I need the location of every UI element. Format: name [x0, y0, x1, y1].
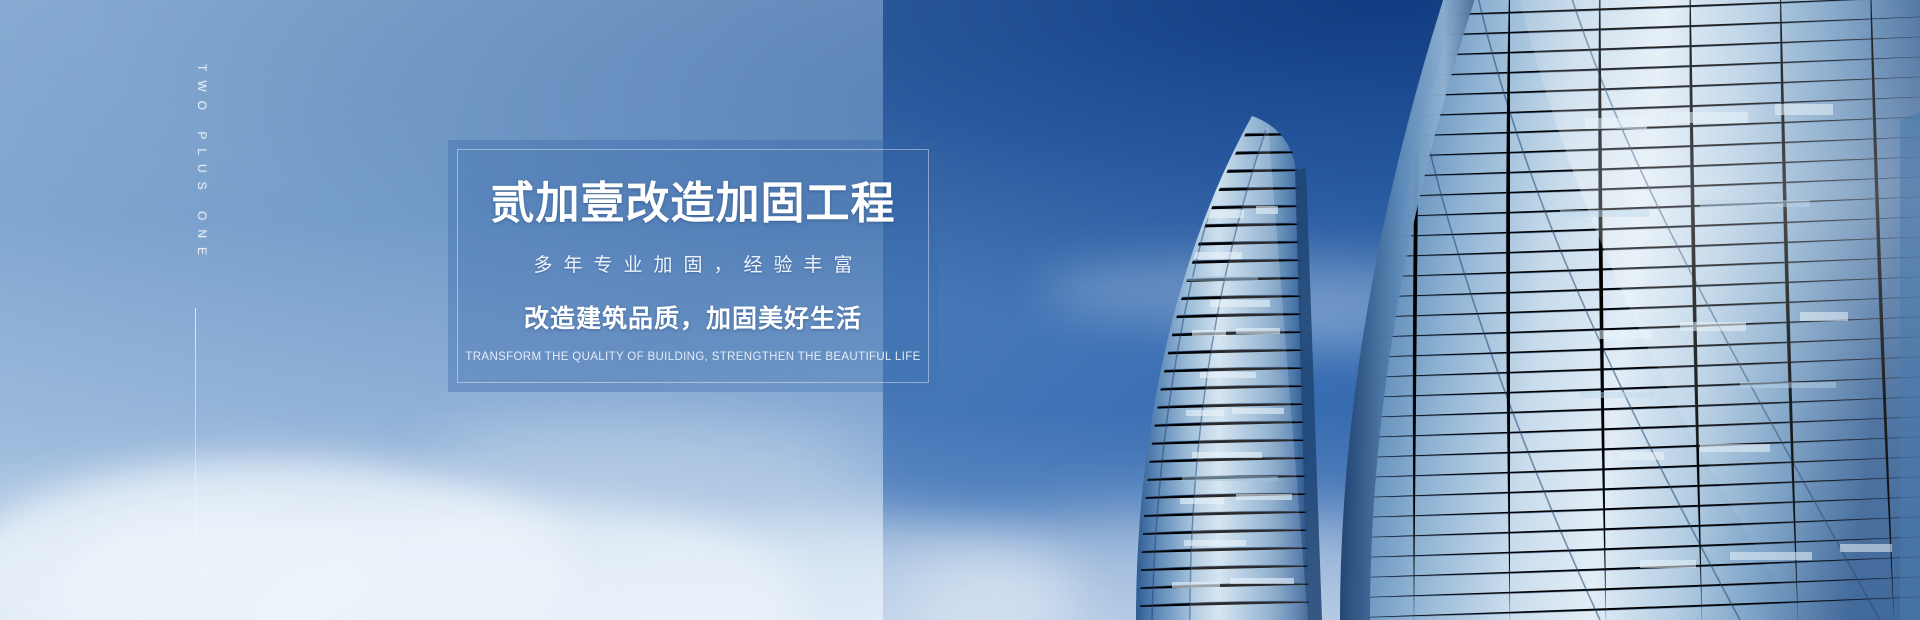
brand-vertical-text: TWO PLUS ONE — [183, 64, 209, 264]
hero-english-line: TRANSFORM THE QUALITY OF BUILDING, STREN… — [465, 351, 920, 363]
skyscraper-photo — [1040, 0, 1920, 620]
panel-content: 贰加壹改造加固工程 多年专业加固，经验丰富 改造建筑品质，加固美好生活 TRAN… — [448, 140, 938, 392]
hero-tagline: 改造建筑品质，加固美好生活 — [524, 299, 862, 335]
slide-index-label: 1 — [185, 569, 211, 577]
hero-banner: TWO PLUS ONE 1 贰加壹改造加固工程 多年专业加固，经验丰富 改造建… — [0, 0, 1920, 620]
cloud-wisp-center — [430, 415, 860, 500]
page-title: 贰加壹改造加固工程 — [491, 182, 896, 226]
hero-text-panel: 贰加壹改造加固工程 多年专业加固，经验丰富 改造建筑品质，加固美好生活 TRAN… — [448, 140, 938, 392]
vertical-brand-rail: TWO PLUS ONE 1 — [183, 64, 209, 584]
hero-subtitle: 多年专业加固，经验丰富 — [522, 250, 863, 277]
